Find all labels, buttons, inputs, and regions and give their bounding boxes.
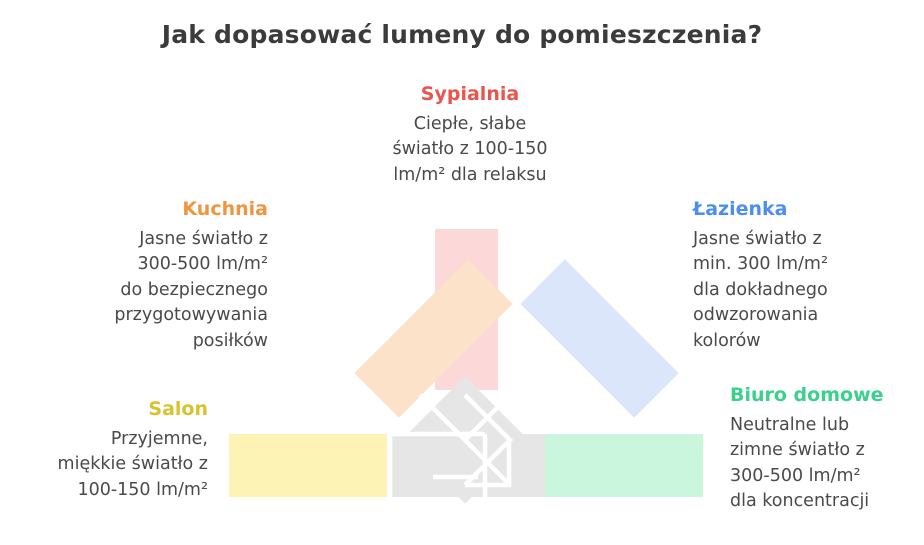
room-heading-kuchnia: Kuchnia (18, 199, 268, 221)
room-body-biuro-domowe: Neutralne lubzimne światło z300-500 lm/m… (730, 413, 924, 515)
room-heading-biuro-domowe: Biuro domowe (730, 385, 924, 407)
room-body-sypialnia: Ciepłe, słabeświatło z 100-150lm/m² dla … (322, 112, 618, 189)
bar-biuro (545, 434, 703, 497)
bar-lazienka (520, 259, 678, 417)
room-body-lazienka: Jasne światło zmin. 300 lm/m²dla dokładn… (693, 227, 923, 355)
hub-square-right (485, 434, 545, 497)
room-sypialnia: Sypialnia Ciepłe, słabeświatło z 100-150… (322, 84, 618, 188)
room-lazienka: Łazienka Jasne światło zmin. 300 lm/m²dl… (693, 199, 923, 355)
room-body-kuchnia: Jasne światło z300-500 lm/m²do bezpieczn… (18, 227, 268, 355)
room-biuro-domowe: Biuro domowe Neutralne lubzimne światło … (730, 385, 924, 515)
room-heading-sypialnia: Sypialnia (322, 84, 618, 106)
bar-salon (229, 434, 387, 497)
infographic-canvas: Jak dopasować lumeny do pomieszczenia? (0, 0, 924, 545)
room-body-salon: Przyjemne,miękkie światło z100-150 lm/m² (8, 427, 208, 504)
room-salon: Salon Przyjemne,miękkie światło z100-150… (8, 399, 208, 503)
room-heading-salon: Salon (8, 399, 208, 421)
room-heading-lazienka: Łazienka (693, 199, 923, 221)
room-kuchnia: Kuchnia Jasne światło z300-500 lm/m²do b… (18, 199, 268, 355)
